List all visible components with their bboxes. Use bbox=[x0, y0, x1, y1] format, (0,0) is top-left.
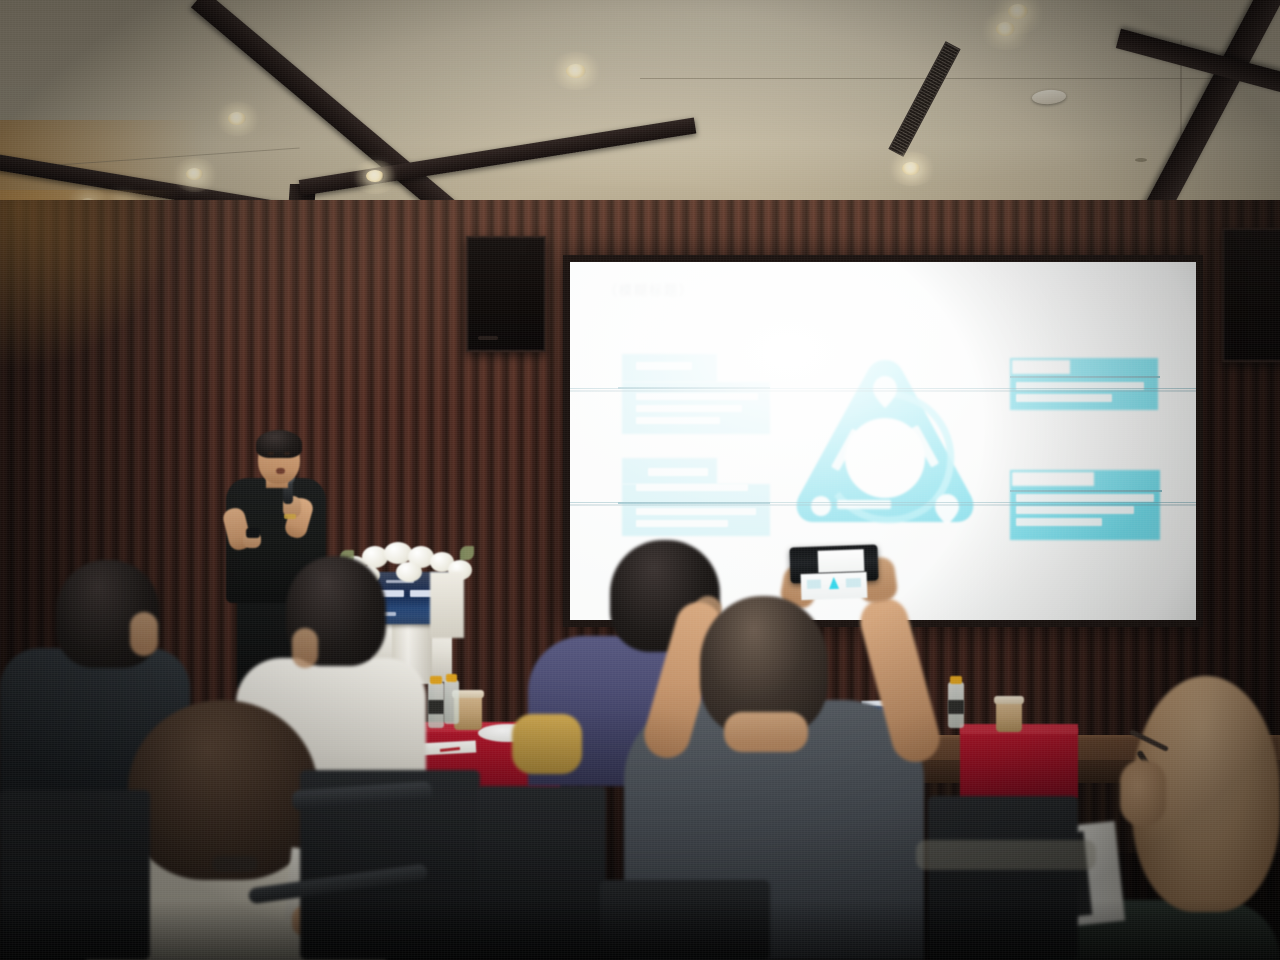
bottle-label bbox=[948, 700, 964, 714]
slide-text-line bbox=[636, 417, 720, 424]
bald-attendee-ear bbox=[1120, 760, 1166, 826]
slide-rule bbox=[1010, 376, 1160, 378]
attendee-cream-blouse-hair bbox=[128, 700, 318, 880]
smartphone-preview-panel[interactable] bbox=[801, 572, 868, 600]
slide-text-line bbox=[636, 484, 748, 491]
slide-scan-smear bbox=[570, 388, 1196, 389]
slide-text-line bbox=[636, 393, 758, 400]
flower-vase bbox=[430, 572, 464, 638]
presentation-clicker bbox=[246, 528, 260, 538]
spotlight-glow bbox=[550, 52, 602, 90]
spotlight-glow bbox=[172, 158, 218, 192]
slide-text-line bbox=[1016, 494, 1154, 502]
wall-warm-glow bbox=[0, 190, 180, 370]
chair-backrest bbox=[916, 840, 1096, 870]
slide-text-line bbox=[636, 405, 742, 412]
slide-text-line bbox=[648, 468, 708, 476]
conference-table-right bbox=[960, 728, 1078, 798]
wall-speaker-right bbox=[1222, 228, 1280, 362]
presenter-eye bbox=[284, 452, 290, 455]
wristwatch bbox=[284, 514, 296, 519]
wall-speaker-left bbox=[466, 236, 546, 352]
photographer-neck bbox=[724, 712, 808, 752]
slide-text-line bbox=[1016, 518, 1102, 526]
spotlight-glow bbox=[980, 12, 1032, 50]
spotlight-glow bbox=[216, 102, 260, 136]
presenter-hair bbox=[256, 430, 302, 458]
slide-text-line bbox=[636, 520, 728, 527]
bottle-cap bbox=[430, 676, 442, 684]
slide-rule bbox=[1010, 490, 1162, 492]
smoke-detector-icon bbox=[1135, 158, 1147, 162]
bottle-cap bbox=[950, 676, 962, 684]
spotlight-glow bbox=[888, 152, 936, 186]
slide-title: （模糊标题） bbox=[604, 280, 694, 299]
slide-box-bottom-right-head bbox=[1012, 472, 1094, 486]
attendee-blue-shirt-chair-back bbox=[512, 714, 582, 774]
smartphone-viewfinder[interactable] bbox=[818, 549, 865, 573]
bottle-label bbox=[428, 700, 444, 714]
attendee-white-shirt-ear-side bbox=[292, 628, 318, 668]
water-bottle bbox=[444, 680, 459, 724]
presenter-eye bbox=[268, 452, 274, 455]
slide-scan-smear bbox=[570, 504, 1196, 506]
attendee-dark-suit-ear-side bbox=[130, 612, 158, 656]
presenter-mouth bbox=[276, 468, 285, 474]
coffee-cup-lid bbox=[994, 696, 1024, 704]
slide-text-line bbox=[636, 508, 756, 515]
rounded-triangle-emblem bbox=[785, 354, 985, 534]
attendee-cream-blouse-necklace bbox=[212, 856, 258, 872]
slide-box-top-right-head bbox=[1012, 360, 1070, 374]
photo-scene: （模糊标题） bbox=[0, 0, 1280, 960]
slide-text-line bbox=[1016, 394, 1112, 402]
slide-scan-smear bbox=[570, 502, 1196, 503]
coffee-cup bbox=[996, 700, 1022, 732]
spotlight-glow bbox=[352, 160, 398, 194]
foreground-shadow bbox=[0, 900, 1280, 960]
slide-scan-smear bbox=[570, 390, 1196, 392]
wall-speaker-left-logo bbox=[478, 336, 498, 340]
slide-text-line bbox=[1016, 506, 1134, 514]
ceiling-panel-seam bbox=[640, 78, 1280, 79]
bottle-cap bbox=[446, 674, 457, 682]
slide-text-line bbox=[636, 362, 692, 370]
